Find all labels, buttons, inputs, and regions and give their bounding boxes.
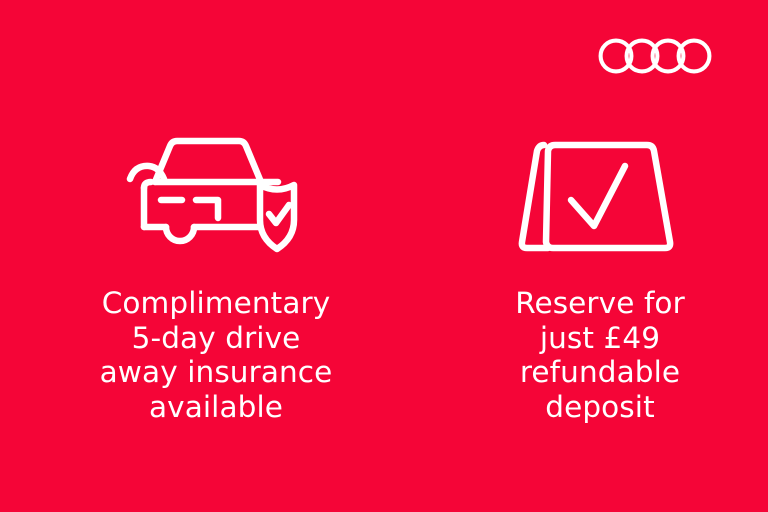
feature-text-line: Complimentary [100,286,333,321]
promo-banner: Complimentary 5-day drive away insurance… [0,0,768,512]
feature-item-deposit: Reserve for just £49 refundable deposit [432,0,768,424]
feature-text-insurance: Complimentary 5-day drive away insurance… [100,286,333,424]
feature-item-insurance: Complimentary 5-day drive away insurance… [0,0,432,424]
feature-text-line: 5-day drive [100,321,333,356]
feature-text-line: away insurance [100,355,333,390]
feature-text-line: refundable [515,355,685,390]
car-shield-icon [126,130,306,260]
feature-text-line: available [100,390,333,425]
feature-text-line: deposit [515,390,685,425]
feature-text-line: Reserve for [515,286,685,321]
feature-list: Complimentary 5-day drive away insurance… [0,0,768,512]
a-frame-sign-check-icon [515,130,685,260]
feature-text-line: just £49 [515,321,685,356]
feature-text-deposit: Reserve for just £49 refundable deposit [515,286,685,424]
